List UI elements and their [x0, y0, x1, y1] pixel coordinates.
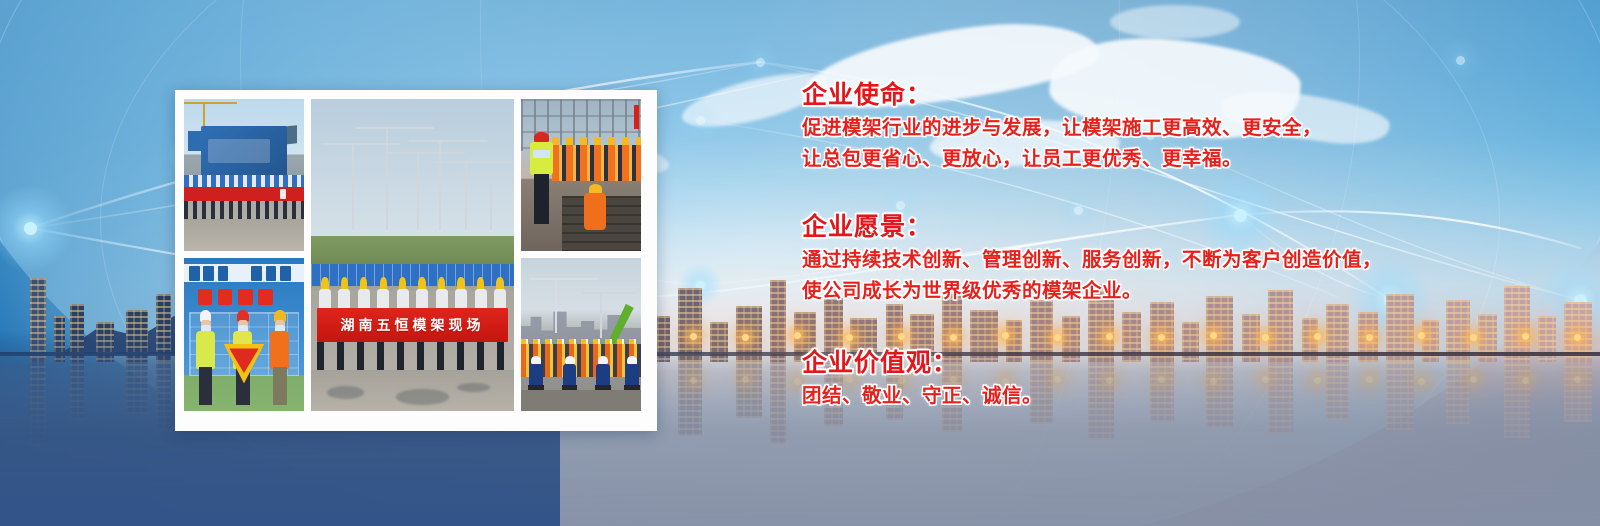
photo-hunan-wuheng: 湖南五恒模架现场	[311, 99, 514, 411]
photo-collage: 湖南五恒模架现场	[175, 90, 657, 431]
vision-block: 企业愿景： 通过持续技术创新、管理创新、服务创新，不断为客户创造价值， 使公司成…	[802, 210, 1562, 306]
vision-line-2: 使公司成长为世界级优秀的模架企业。	[802, 275, 1562, 306]
photo-banner-text: 湖南五恒模架现场	[341, 315, 485, 335]
values-block: 企业价值观： 团结、敬业、守正、诚信。	[802, 346, 1562, 411]
photo-site-assembly	[521, 258, 641, 411]
vision-line-1: 通过持续技术创新、管理创新、服务创新，不断为客户创造价值，	[802, 244, 1562, 275]
network-node	[696, 116, 705, 125]
photo-banner-hunan-wuheng: 湖南五恒模架现场	[317, 308, 508, 342]
vision-heading: 企业愿景：	[802, 210, 1562, 244]
mission-block: 企业使命： 促进模架行业的进步与发展，让模架施工更高效、更安全， 让总包更省心、…	[802, 78, 1562, 174]
network-node	[756, 58, 765, 67]
photo-site-briefing	[521, 99, 641, 251]
photo-morning-meeting	[184, 258, 304, 411]
mission-line-2: 让总包更省心、更放心，让员工更优秀、更幸福。	[802, 143, 1562, 174]
enterprise-culture-banner: 湖南五恒模架现场	[0, 0, 1600, 526]
network-node	[1456, 56, 1465, 65]
values-line-1: 团结、敬业、守正、诚信。	[802, 380, 1562, 411]
culture-text-column: 企业使命： 促进模架行业的进步与发展，让模架施工更高效、更安全， 让总包更省心、…	[802, 78, 1562, 411]
values-heading: 企业价值观：	[802, 346, 1562, 380]
mission-line-1: 促进模架行业的进步与发展，让模架施工更高效、更安全，	[802, 112, 1562, 143]
photo-safety-pledge	[184, 99, 304, 251]
network-node	[24, 222, 37, 235]
mission-heading: 企业使命：	[802, 78, 1562, 112]
